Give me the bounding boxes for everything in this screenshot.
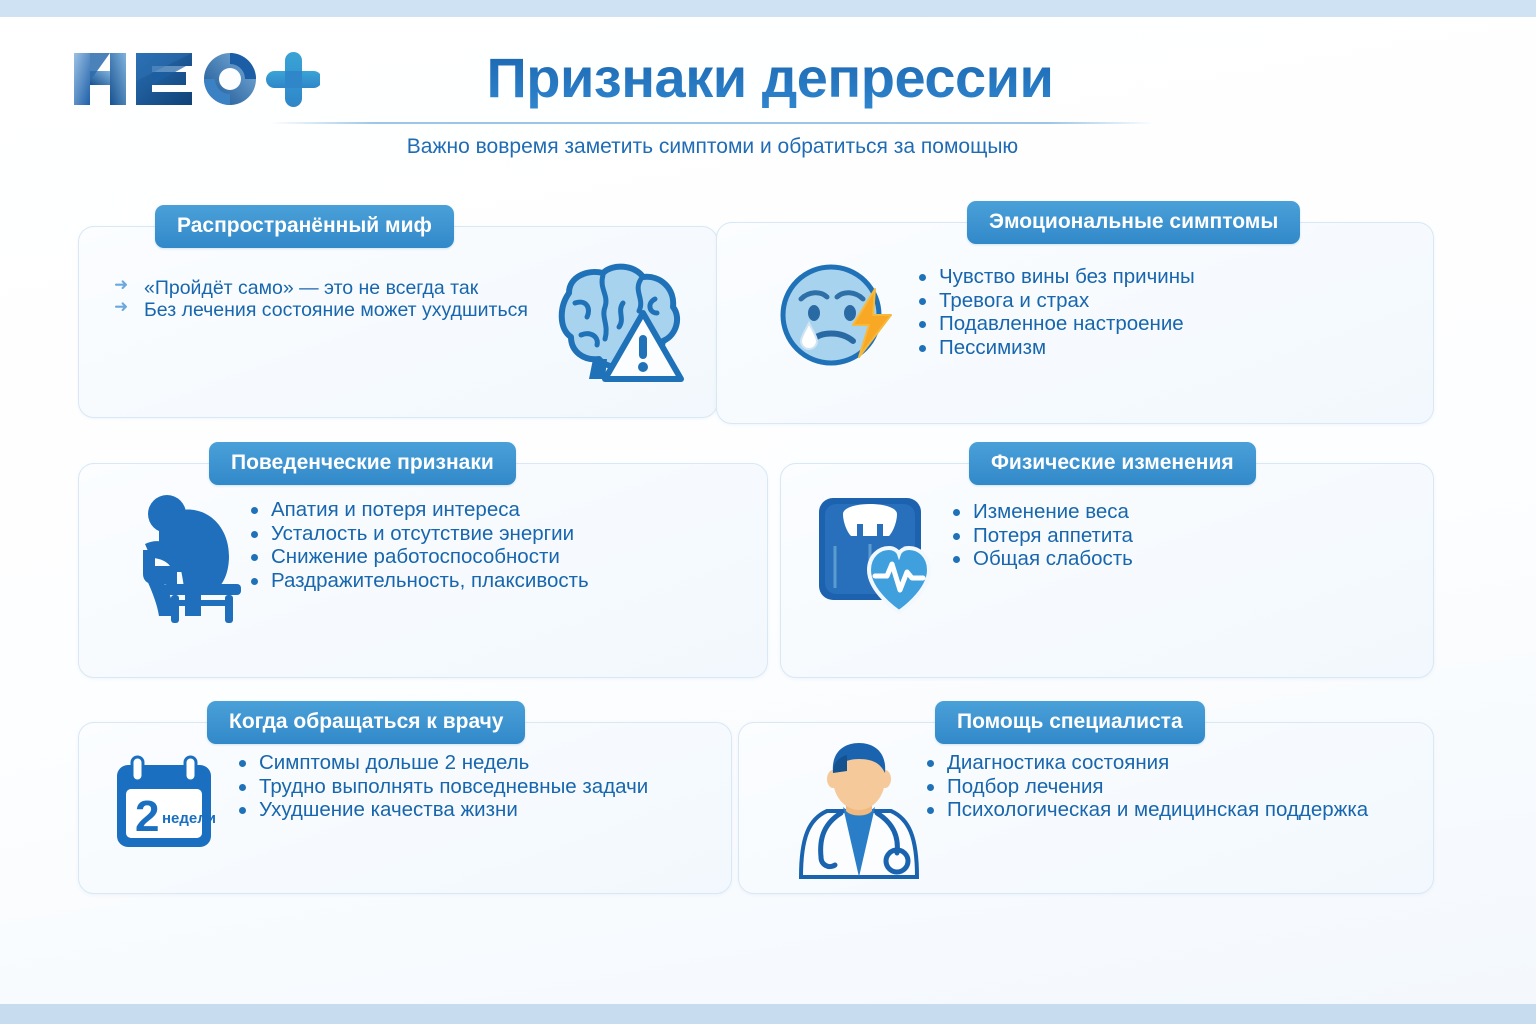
top-accent-band	[0, 0, 1536, 17]
list-item: Без лечения состояние может ухудшиться	[114, 299, 528, 321]
list-item: Чувство вины без причины	[917, 265, 1195, 289]
list-item: Общая слабость	[951, 547, 1133, 571]
list-item: Пессимизм	[917, 336, 1195, 360]
list-item: Подбор лечения	[925, 775, 1368, 799]
card-body-physical: Изменение веса Потеря аппетита Общая сла…	[781, 464, 1433, 677]
list-item: Трудно выполнять повседневные задачи	[237, 775, 648, 799]
title-divider	[270, 122, 1155, 124]
card-behavioral: Поведенческие признаки	[78, 463, 768, 678]
bottom-accent-band	[0, 1004, 1536, 1024]
bullet-list-when-to-see-doctor: Симптомы дольше 2 недель Трудно выполнят…	[237, 751, 648, 822]
card-when-to-see-doctor: Когда обращаться к врачу 2 недели Симпто…	[78, 722, 732, 894]
bullet-list-physical: Изменение веса Потеря аппетита Общая сла…	[951, 500, 1133, 571]
neo-plus-logo	[70, 41, 320, 117]
card-body-myth: «Пройдёт само» — это не всегда так Без л…	[79, 227, 717, 417]
bullet-list-behavioral: Апатия и потеря интереса Усталость и отс…	[249, 498, 589, 592]
list-item: Раздражительность, плаксивость	[249, 569, 589, 593]
card-specialist-help: Помощь специалиста	[738, 722, 1434, 894]
list-item: Диагностика состояния	[925, 751, 1368, 775]
list-item: Изменение веса	[951, 500, 1133, 524]
card-physical: Физические изменения	[780, 463, 1434, 678]
list-item: Подавленное настроение	[917, 312, 1195, 336]
list-item: Ухудшение качества жизни	[237, 798, 648, 822]
list-item: «Пройдёт само» — это не всегда так	[114, 277, 528, 299]
slumped-person-icon	[137, 488, 252, 628]
card-myth: Распространённый миф «Пройдёт само» — эт…	[78, 226, 718, 418]
card-body-emotional: Чувство вины без причины Тревога и страх…	[717, 223, 1433, 423]
list-item: Потеря аппетита	[951, 524, 1133, 548]
list-item: Психологическая и медицинская поддержка	[925, 798, 1368, 822]
list-item: Тревога и страх	[917, 289, 1195, 313]
page-header: Признаки депрессии Важно вовремя заметит…	[0, 17, 1536, 167]
card-body-specialist-help: Диагностика состояния Подбор лечения Пси…	[739, 723, 1433, 893]
infographic-page: Признаки депрессии Важно вовремя заметит…	[0, 0, 1536, 1024]
calendar-two-weeks-icon: 2 недели	[107, 755, 222, 855]
list-item: Симптомы дольше 2 недель	[237, 751, 648, 775]
sad-face-lightning-icon	[771, 253, 901, 383]
bullet-list-emotional: Чувство вины без причины Тревога и страх…	[917, 265, 1195, 359]
list-item: Усталость и отсутствие энергии	[249, 522, 589, 546]
bullet-list-specialist-help: Диагностика состояния Подбор лечения Пси…	[925, 751, 1368, 822]
page-title: Признаки депрессии	[380, 45, 1160, 110]
card-emotional: Эмоциональные симптомы Чувство вины без …	[716, 222, 1434, 424]
weight-scale-heart-icon	[811, 488, 951, 623]
doctor-icon	[789, 741, 934, 881]
list-item: Апатия и потеря интереса	[249, 498, 589, 522]
card-body-behavioral: Апатия и потеря интереса Усталость и отс…	[79, 464, 767, 677]
brain-warning-icon	[529, 255, 699, 395]
list-item: Снижение работоспособности	[249, 545, 589, 569]
page-subtitle: Важно вовремя заметить симптоми и обрати…	[270, 135, 1155, 159]
card-body-when-to-see-doctor: 2 недели Симптомы дольше 2 недель Трудно…	[79, 723, 731, 893]
calendar-number: 2	[135, 792, 159, 841]
calendar-unit: недели	[162, 810, 216, 827]
bullet-list-myth: «Пройдёт само» — это не всегда так Без л…	[114, 277, 528, 322]
